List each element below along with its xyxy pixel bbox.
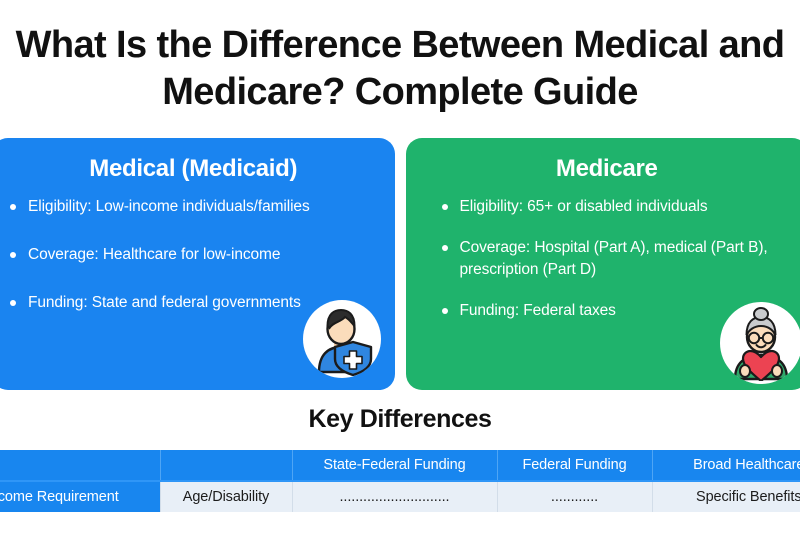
table-header-cell: State-Federal Funding [292,450,497,481]
key-differences-table: State-Federal Funding Federal Funding Br… [0,450,800,512]
list-item: Eligibility: Low-income individuals/fami… [10,196,377,218]
page-title-line-1: What Is the Difference Between Medical a… [0,22,800,69]
table-cell-placeholder: ............ [497,481,652,512]
key-differences-heading: Key Differences [0,404,800,434]
key-differences-table-wrapper: State-Federal Funding Federal Funding Br… [0,450,800,513]
bullet-dot-icon [442,308,448,314]
card-medicare: Medicare Eligibility: 65+ or disabled in… [406,138,800,390]
list-item: Funding: Federal taxes [442,300,791,322]
comparison-cards: Medical (Medicaid) Eligibility: Low-inco… [0,138,800,390]
list-item: Funding: State and federal governments [10,292,377,314]
bullet-dot-icon [10,252,16,258]
table-cell-income-requirement: Income Requirement [0,481,160,512]
list-item: Eligibility: 65+ or disabled individuals [442,196,791,218]
list-item: Coverage: Hospital (Part A), medical (Pa… [442,237,791,281]
bullet-dot-icon [442,204,448,210]
page-title-line-2: Medicare? Complete Guide [0,69,800,116]
infographic-page: What Is the Difference Between Medical a… [0,0,800,533]
table-cell-age-disability: Age/Disability [160,481,292,512]
table-cell-specific-benefits: Specific Benefits [652,481,800,512]
bullet-dot-icon [442,245,448,251]
card-medicare-bullets: Eligibility: 65+ or disabled individuals… [424,196,791,322]
table-header-cell: Federal Funding [497,450,652,481]
card-medicare-title: Medicare [424,154,791,184]
card-medical-bullets: Eligibility: Low-income individuals/fami… [10,196,377,314]
card-medical: Medical (Medicaid) Eligibility: Low-inco… [0,138,395,390]
table-header-cell: Broad Healthcare [652,450,800,481]
list-item-label: Funding: Federal taxes [460,302,616,319]
table-header-row: State-Federal Funding Federal Funding Br… [0,450,800,481]
list-item-label: Coverage: Hospital (Part A), medical (Pa… [460,239,768,278]
table-header-cell [160,450,292,481]
list-item: Coverage: Healthcare for low-income [10,244,377,266]
table-header-cell [0,450,160,481]
table-cell-placeholder: ............................ [292,481,497,512]
table-row: Income Requirement Age/Disability ......… [0,481,800,512]
bullet-dot-icon [10,204,16,210]
list-item-label: Funding: State and federal governments [28,294,301,311]
list-item-label: Eligibility: Low-income individuals/fami… [28,198,310,215]
list-item-label: Eligibility: 65+ or disabled individuals [460,198,708,215]
list-item-label: Coverage: Healthcare for low-income [28,246,280,263]
page-title: What Is the Difference Between Medical a… [0,22,800,116]
card-medical-title: Medical (Medicaid) [10,154,377,184]
bullet-dot-icon [10,300,16,306]
